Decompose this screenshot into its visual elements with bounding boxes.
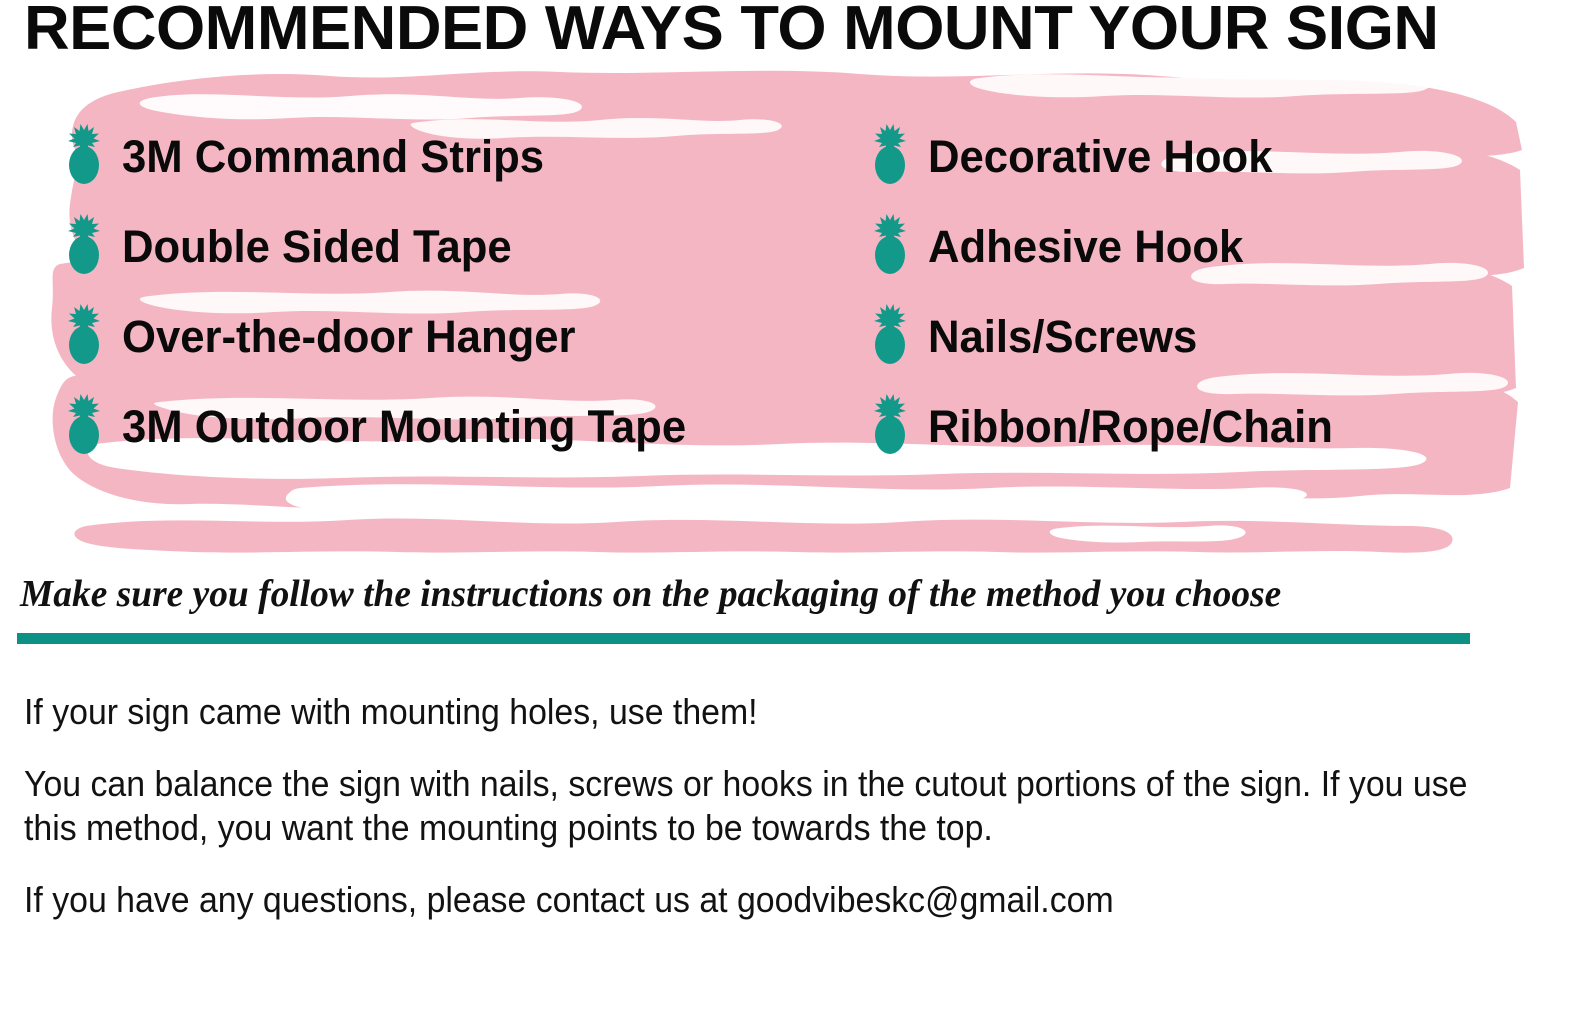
pineapple-icon (62, 124, 106, 186)
body-copy: If your sign came with mounting holes, u… (24, 690, 1524, 950)
pineapple-icon (62, 214, 106, 276)
mounting-methods-left-column: 3M Command Strips Double Sided Tape (62, 112, 704, 472)
pineapple-icon (868, 304, 912, 366)
list-item: 3M Outdoor Mounting Tape (62, 382, 704, 472)
list-item: Double Sided Tape (62, 202, 704, 292)
list-item: 3M Command Strips (62, 112, 704, 202)
pineapple-icon (868, 394, 912, 456)
list-item-label: Adhesive Hook (928, 223, 1243, 271)
body-paragraph-1: If your sign came with mounting holes, u… (24, 690, 1519, 734)
list-item-label: Double Sided Tape (122, 223, 512, 271)
list-item: Adhesive Hook (868, 202, 1345, 292)
pineapple-icon (868, 214, 912, 276)
pineapple-icon (62, 394, 106, 456)
list-item-label: Decorative Hook (928, 133, 1272, 181)
mounting-methods-right-column: Decorative Hook Adhesive Hook (868, 112, 1345, 472)
flyer-page: RECOMMENDED WAYS TO MOUNT YOUR SIGN 3M C… (0, 0, 1588, 1030)
teal-divider (17, 633, 1470, 644)
list-item: Decorative Hook (868, 112, 1345, 202)
list-item-label: Ribbon/Rope/Chain (928, 403, 1333, 451)
instructions-note: Make sure you follow the instructions on… (20, 572, 1545, 616)
list-item-label: 3M Outdoor Mounting Tape (122, 403, 686, 451)
body-paragraph-2: You can balance the sign with nails, scr… (24, 762, 1490, 850)
list-item: Over-the-door Hanger (62, 292, 704, 382)
page-title: RECOMMENDED WAYS TO MOUNT YOUR SIGN (24, 0, 1588, 62)
pineapple-icon (868, 124, 912, 186)
mounting-methods-lists: 3M Command Strips Double Sided Tape (0, 112, 1588, 472)
body-paragraph-3: If you have any questions, please contac… (24, 878, 1519, 922)
list-item-label: 3M Command Strips (122, 133, 544, 181)
pineapple-icon (62, 304, 106, 366)
list-item-label: Nails/Screws (928, 313, 1197, 361)
list-item: Nails/Screws (868, 292, 1345, 382)
list-item: Ribbon/Rope/Chain (868, 382, 1345, 472)
list-item-label: Over-the-door Hanger (122, 313, 576, 361)
